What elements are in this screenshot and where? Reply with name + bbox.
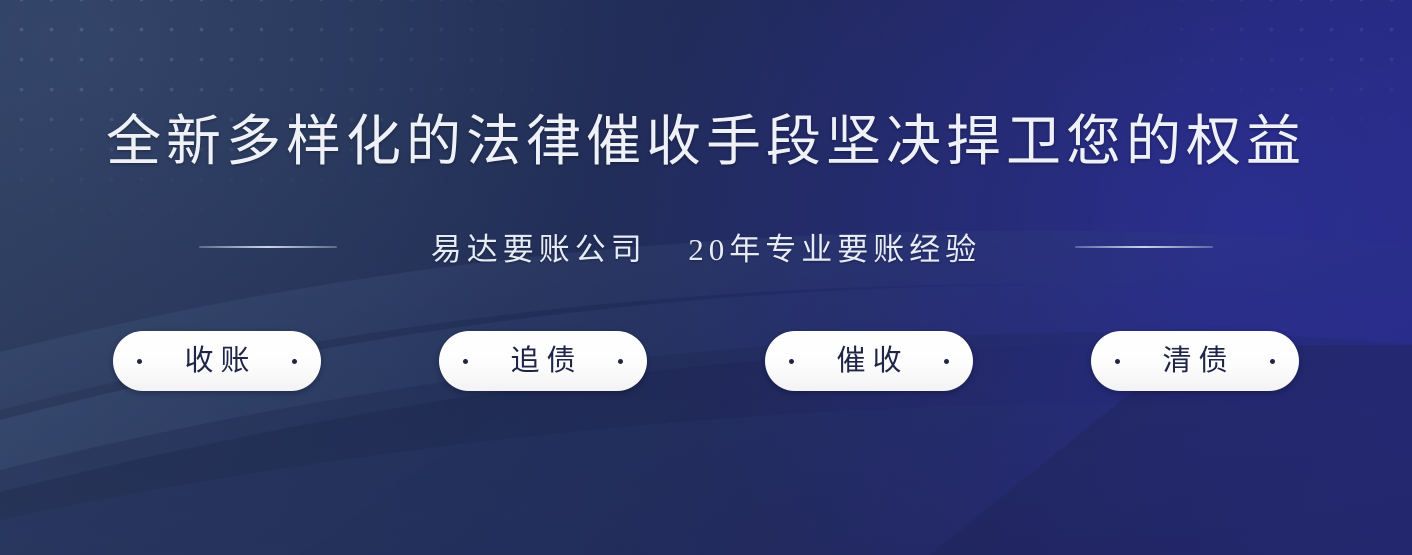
- pill-button-shouzhang[interactable]: 收账: [113, 331, 321, 391]
- banner-content: 全新多样化的法律催收手段坚决捍卫您的权益 易达要账公司 20年专业要账经验 收账…: [0, 0, 1412, 555]
- bullet-dot-icon: [944, 359, 949, 364]
- bullet-dot-icon: [1115, 359, 1120, 364]
- divider-line-left: [199, 246, 337, 248]
- bullet-dot-icon: [292, 359, 297, 364]
- subtitle-row: 易达要账公司 20年专业要账经验: [199, 224, 1214, 269]
- pill-label: 收账: [177, 347, 256, 376]
- pill-label: 追债: [503, 347, 582, 376]
- promo-banner: 全新多样化的法律催收手段坚决捍卫您的权益 易达要账公司 20年专业要账经验 收账…: [0, 0, 1412, 555]
- bullet-dot-icon: [1270, 359, 1275, 364]
- service-pill-group: 收账 追债 催收 清债: [113, 331, 1299, 391]
- bullet-dot-icon: [789, 359, 794, 364]
- pill-label: 清债: [1155, 347, 1234, 376]
- bullet-dot-icon: [618, 359, 623, 364]
- bullet-dot-icon: [137, 359, 142, 364]
- page-title: 全新多样化的法律催收手段坚决捍卫您的权益: [106, 109, 1306, 175]
- pill-button-cuishou[interactable]: 催收: [765, 331, 973, 391]
- subtitle-company: 易达要账公司: [431, 232, 647, 267]
- divider-line-right: [1075, 246, 1213, 248]
- subtitle: 易达要账公司 20年专业要账经验: [431, 224, 982, 269]
- subtitle-experience: 20年专业要账经验: [688, 232, 981, 267]
- pill-button-qingzhai[interactable]: 清债: [1091, 331, 1299, 391]
- pill-button-zhuizhai[interactable]: 追债: [439, 331, 647, 391]
- pill-label: 催收: [829, 347, 908, 376]
- bullet-dot-icon: [463, 359, 468, 364]
